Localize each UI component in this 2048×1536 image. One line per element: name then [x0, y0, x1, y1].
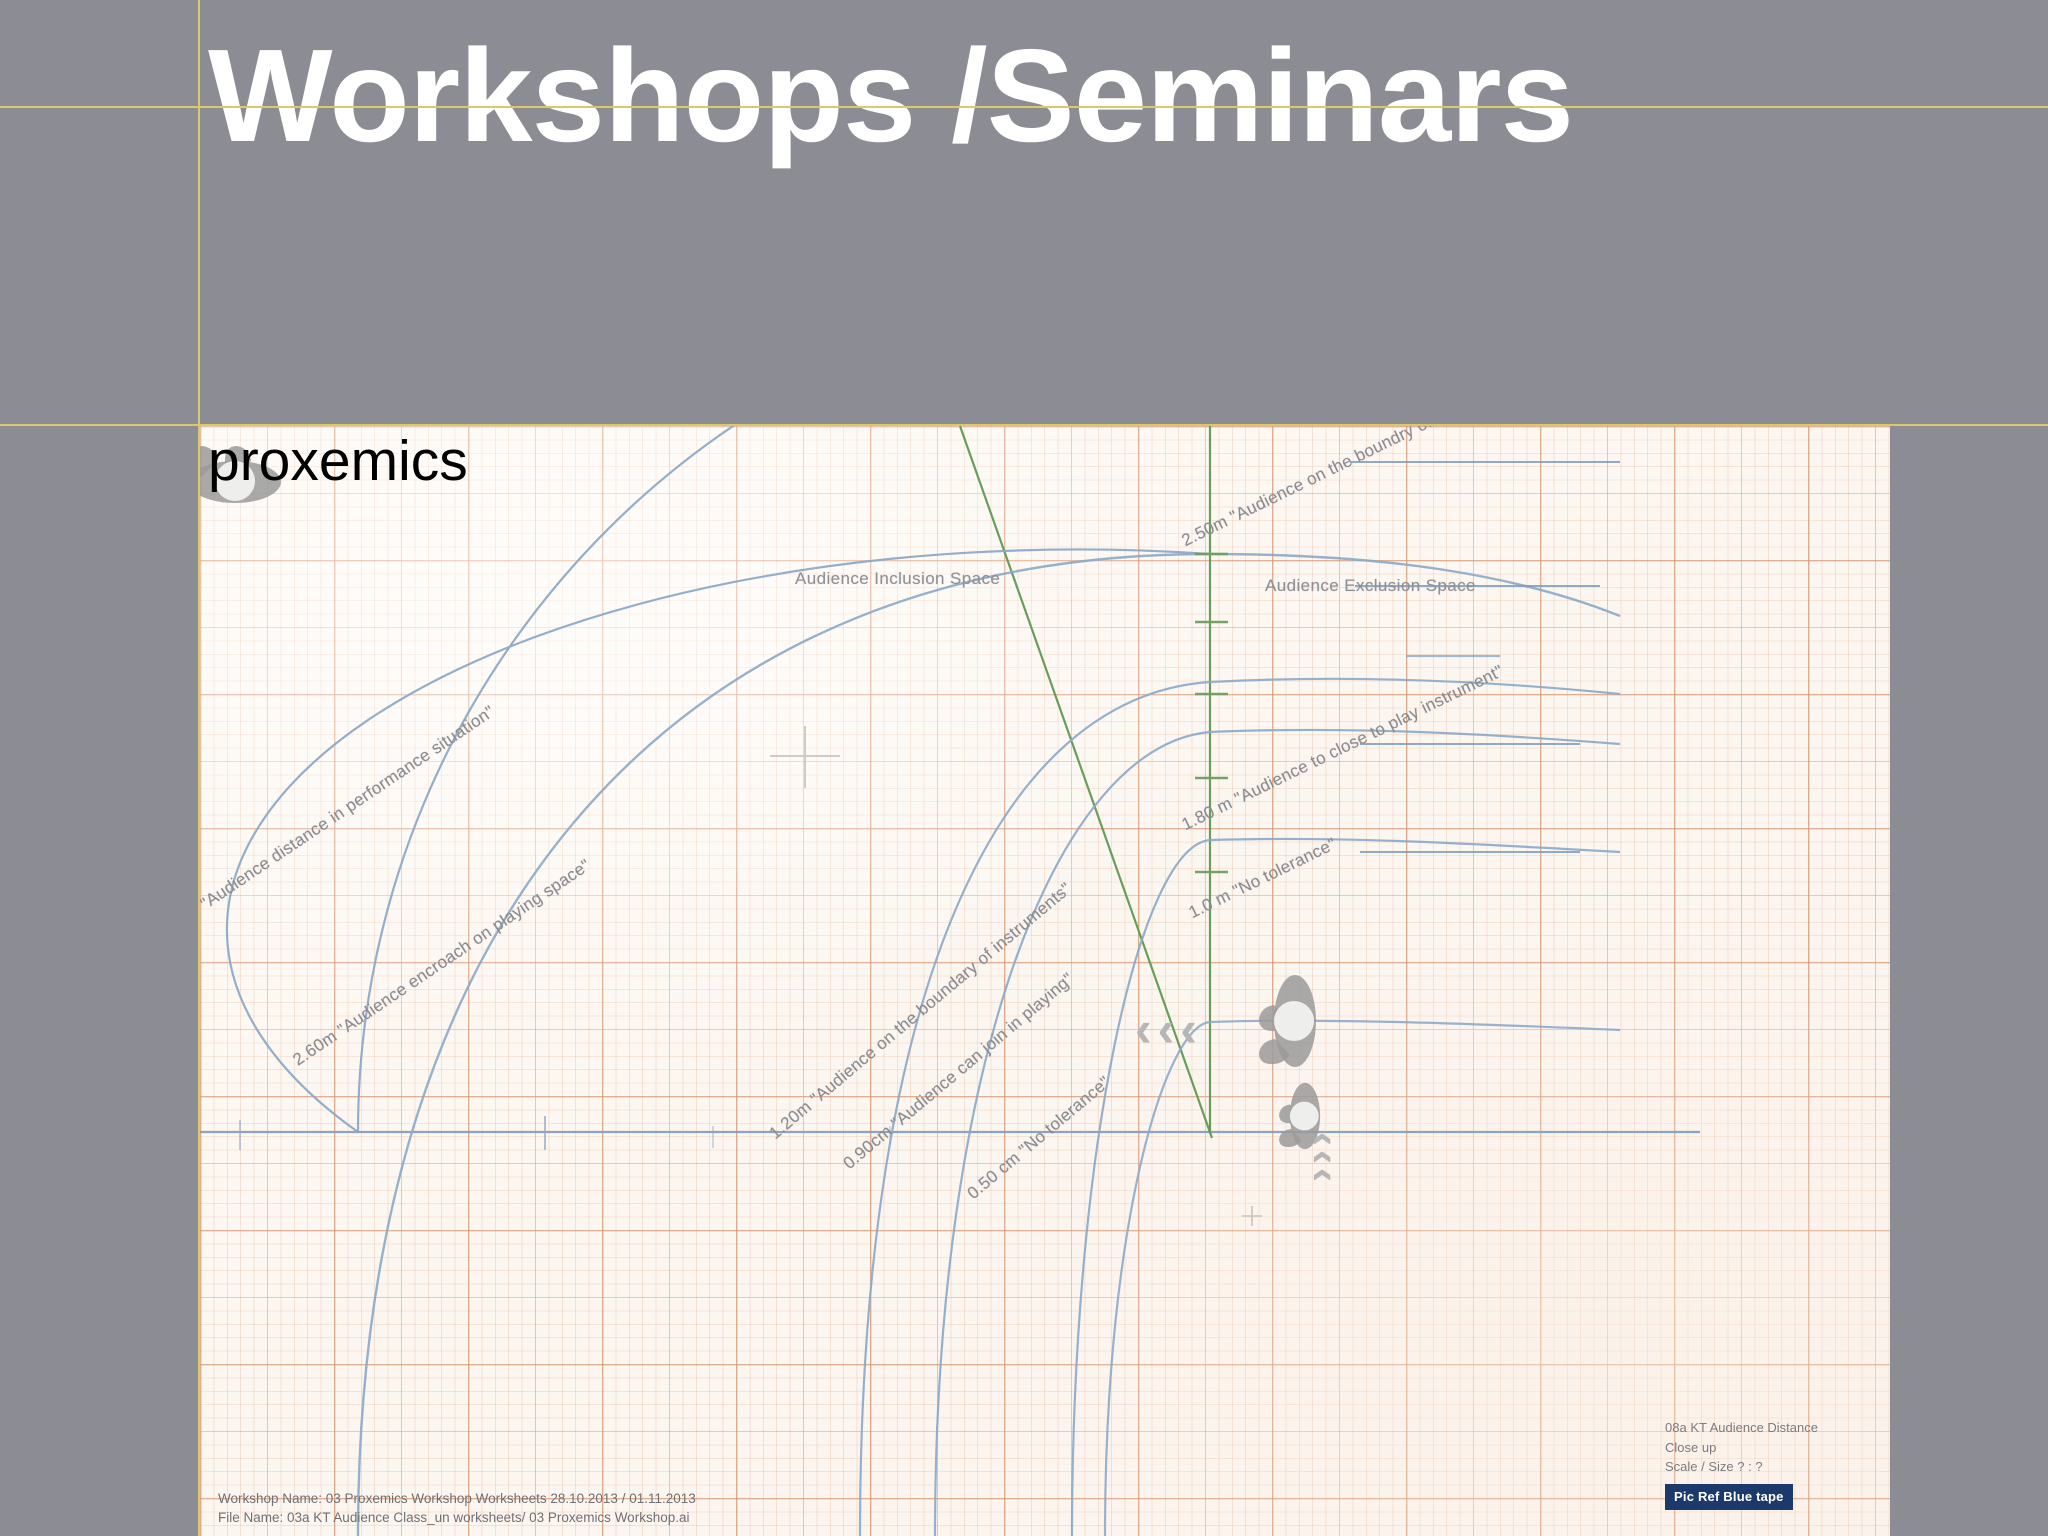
sight-line: [960, 426, 1212, 1138]
arc-0-90cm: [1072, 839, 1620, 1536]
page-title: Workshops /Seminars: [208, 30, 1573, 162]
axis-ticks: [1195, 426, 1228, 872]
slide-subtitle: proxemics: [208, 432, 468, 492]
infobox-line-2: Close up: [1665, 1438, 1818, 1458]
worksheet-footer: Workshop Name: 03 Proxemics Workshop Wor…: [218, 1489, 696, 1528]
slide: Workshops /Seminars: [0, 0, 2048, 1536]
person-figure-performer: [1259, 975, 1316, 1067]
footer-line-2: File Name: 03a KT Audience Class_un work…: [218, 1508, 696, 1528]
infobox-line-1: 08a KT Audience Distance: [1665, 1418, 1818, 1438]
footer-line-1: Workshop Name: 03 Proxemics Workshop Wor…: [218, 1489, 696, 1509]
distance-arcs: [227, 426, 1210, 1132]
proxemics-worksheet-image: Audience Inclusion Space Audience Exclus…: [200, 426, 1890, 1536]
person-figure-small: [1279, 1083, 1320, 1149]
worksheet-infobox: 08a KT Audience Distance Close up Scale …: [1665, 1418, 1818, 1510]
arc-0-50cm: [1105, 1021, 1620, 1536]
pic-ref-badge: Pic Ref Blue tape: [1665, 1484, 1793, 1511]
infobox-line-3: Scale / Size ? : ?: [1665, 1457, 1818, 1477]
proxemics-diagram: [200, 426, 1890, 1536]
registration-crosshair: [770, 726, 840, 788]
